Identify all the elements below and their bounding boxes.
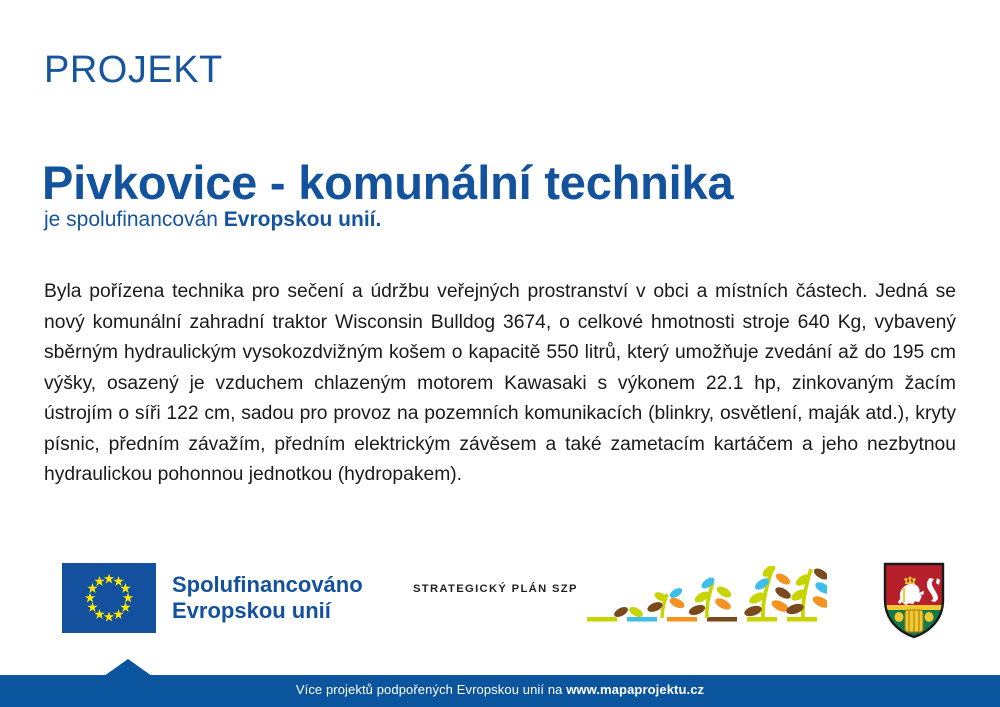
funding-subtitle: je spolufinancován Evropskou unií. xyxy=(44,207,381,233)
footer-text: Více projektů podpořených Evropskou unií… xyxy=(0,681,1000,699)
footer-text-lead: Více projektů podpořených Evropskou unií… xyxy=(296,682,566,697)
funding-subtitle-strong: Evropskou unií. xyxy=(224,208,382,231)
growing-plants-icon xyxy=(587,566,827,628)
municipal-coat-of-arms xyxy=(879,560,949,640)
eu-cofunding-label: Spolufinancováno Evropskou unií xyxy=(172,572,363,624)
funding-subtitle-lead: je spolufinancován xyxy=(44,208,224,231)
szp-label: STRATEGICKÝ PLÁN SZP xyxy=(413,583,578,628)
eu-cofunding-line2: Evropskou unií xyxy=(172,598,363,624)
page-title: Pivkovice - komunální technika xyxy=(42,155,733,211)
footer-notch-triangle xyxy=(104,659,152,676)
eu-flag-icon xyxy=(62,563,156,633)
footer-url[interactable]: www.mapaprojektu.cz xyxy=(566,682,704,697)
project-description: Byla pořízena technika pro sečení a údrž… xyxy=(44,277,956,491)
poster-canvas: PROJEKT Pivkovice - komunální technika j… xyxy=(0,0,1000,707)
eu-cofunding-line1: Spolufinancováno xyxy=(172,572,363,598)
page-eyebrow: PROJEKT xyxy=(44,48,223,92)
eu-cofunding-logo: Spolufinancováno Evropskou unií xyxy=(62,563,363,633)
logo-row: Spolufinancováno Evropskou unií STRATEGI… xyxy=(0,552,1000,644)
strategicky-plan-szp-logo: STRATEGICKÝ PLÁN SZP xyxy=(413,566,827,628)
